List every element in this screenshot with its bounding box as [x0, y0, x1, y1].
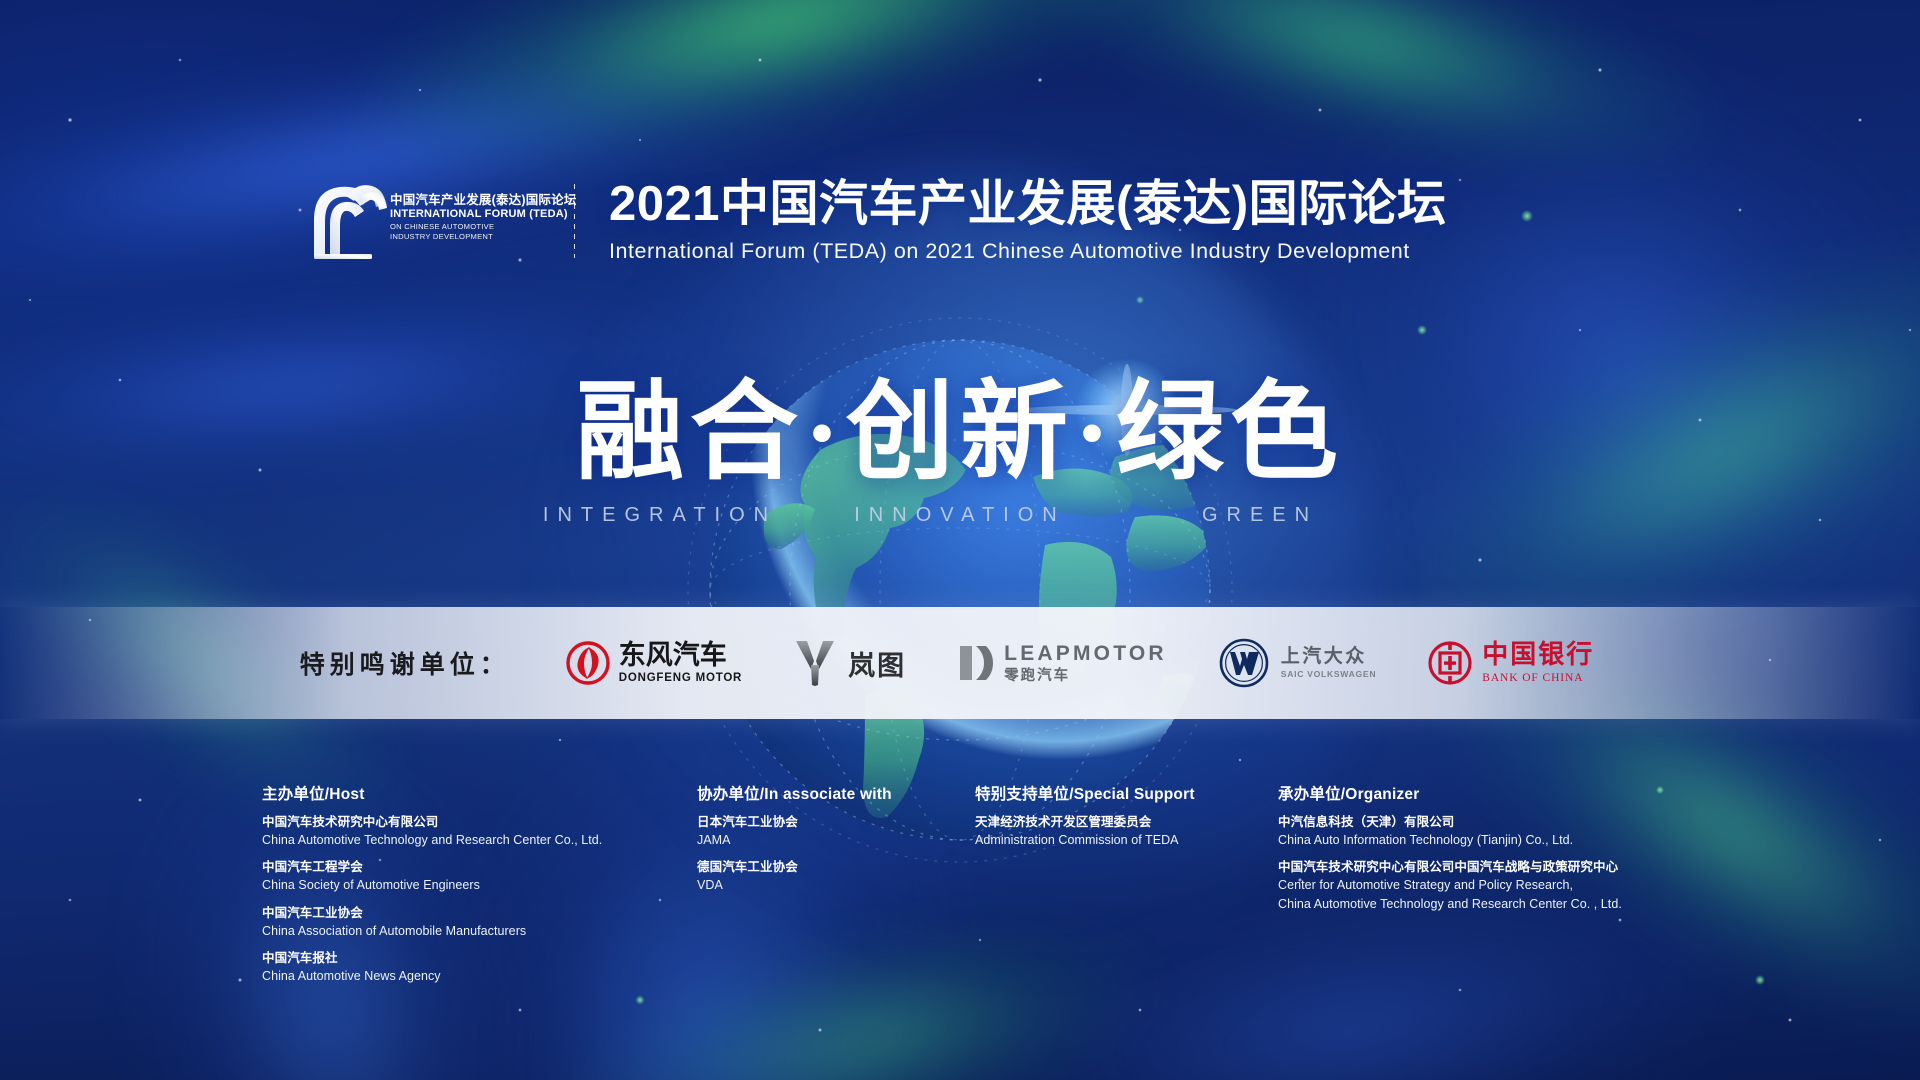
credit-entry-en: China Society of Automotive Engineers	[262, 876, 662, 894]
credit-entry-cn: 中国汽车报社	[262, 949, 662, 967]
credit-entry-en: China Automotive News Agency	[262, 967, 662, 985]
sponsor-logo-bank-of-china[interactable]: 中国银行 BANK OF CHINA	[1402, 631, 1620, 695]
credit-entry-en: Center for Automotive Strategy and Polic…	[1278, 876, 1698, 912]
leapmotor-name-en: LEAPMOTOR	[1004, 643, 1167, 664]
leapmotor-logo-icon	[958, 642, 994, 684]
credit-entry-en: China Association of Automobile Manufact…	[262, 922, 662, 940]
credits-column-organizer: 承办单位/Organizer 中汽信息科技（天津）有限公司 China Auto…	[1278, 782, 1698, 922]
logo-mark-en-primary: INTERNATIONAL FORUM (TEDA)	[390, 208, 577, 220]
saic-vw-name-en: SAIC VOLKSWAGEN	[1281, 670, 1377, 679]
credits-heading: 主办单位/Host	[262, 782, 662, 804]
credits-column-host: 主办单位/Host 中国汽车技术研究中心有限公司 China Automotiv…	[262, 782, 662, 994]
event-slogan: 融合·创新·绿色 INTEGRATION INNOVATION GREEN	[0, 380, 1920, 527]
voyah-name-cn: 岚图	[848, 644, 906, 683]
credits-section: 主办单位/Host 中国汽车技术研究中心有限公司 China Automotiv…	[0, 782, 1920, 982]
volkswagen-logo-icon	[1219, 638, 1269, 688]
credits-heading: 特别支持单位/Special Support	[975, 782, 1275, 804]
credit-entry: 中国汽车技术研究中心有限公司 China Automotive Technolo…	[262, 813, 662, 849]
logo-mark-en-secondary: ON CHINESE AUTOMOTIVE INDUSTRY DEVELOPME…	[390, 222, 577, 241]
page-title-cn: 2021中国汽车产业发展(泰达)国际论坛	[609, 178, 1447, 232]
credit-entry-cn: 中汽信息科技（天津）有限公司	[1278, 813, 1698, 831]
saic-vw-name-cn: 上汽大众	[1281, 647, 1367, 666]
credits-column-associate: 协办单位/In associate with 日本汽车工业协会 JAMA 德国汽…	[697, 782, 977, 904]
credit-entry-en: JAMA	[697, 831, 977, 849]
credit-entry-en: China Auto Information Technology (Tianj…	[1278, 831, 1698, 849]
credit-entry-en: VDA	[697, 876, 977, 894]
credit-entry: 德国汽车工业协会 VDA	[697, 858, 977, 894]
dongfeng-logo-icon	[566, 641, 610, 685]
sponsor-logo-voyah[interactable]: 岚图	[768, 631, 932, 695]
slogan-en-innovation: INNOVATION	[810, 504, 1110, 527]
credits-column-special-support: 特别支持单位/Special Support 天津经济技术开发区管理委员会 Ad…	[975, 782, 1275, 858]
credit-entry: 天津经济技术开发区管理委员会 Administration Commission…	[975, 813, 1275, 849]
poster-header: 中国汽车产业发展(泰达)国际论坛 INTERNATIONAL FORUM (TE…	[310, 178, 1447, 264]
slogan-en-integration: INTEGRATION	[510, 504, 810, 527]
credit-entry-en: China Automotive Technology and Research…	[262, 831, 662, 849]
credit-entry-en: Administration Commission of TEDA	[975, 831, 1275, 849]
credit-entry: 中国汽车技术研究中心有限公司中国汽车战略与政策研究中心 Center for A…	[1278, 858, 1698, 912]
credit-entry-cn: 天津经济技术开发区管理委员会	[975, 813, 1275, 831]
bank-of-china-logo-icon	[1428, 641, 1472, 685]
voyah-logo-icon	[794, 639, 836, 687]
teda-forum-logo: 中国汽车产业发展(泰达)国际论坛 INTERNATIONAL FORUM (TE…	[310, 180, 552, 262]
slogan-en-green: GREEN	[1110, 504, 1410, 527]
credit-entry-cn: 日本汽车工业协会	[697, 813, 977, 831]
boc-name-cn: 中国银行	[1482, 642, 1594, 668]
aurora-blue-ribbon-1	[0, 0, 939, 349]
credit-entry: 中国汽车工程学会 China Society of Automotive Eng…	[262, 858, 662, 894]
forum-arch-mark-icon	[310, 180, 388, 262]
credit-entry: 中国汽车报社 China Automotive News Agency	[262, 949, 662, 985]
dongfeng-name-en: DONGFENG MOTOR	[619, 673, 742, 685]
sponsor-logo-dongfeng[interactable]: 东风汽车 DONGFENG MOTOR	[540, 631, 768, 695]
credit-entry-cn: 中国汽车工程学会	[262, 858, 662, 876]
sponsor-logo-list: 东风汽车 DONGFENG MOTOR	[540, 631, 1621, 695]
page-title-en: International Forum (TEDA) on 2021 Chine…	[609, 239, 1447, 264]
leapmotor-name-cn: 零跑汽车	[1004, 669, 1167, 684]
credit-entry-cn: 中国汽车技术研究中心有限公司	[262, 813, 662, 831]
dongfeng-name-cn: 东风汽车	[619, 642, 742, 669]
logo-mark-cn: 中国汽车产业发展(泰达)国际论坛	[390, 193, 577, 207]
boc-name-en: BANK OF CHINA	[1482, 673, 1594, 685]
sponsor-logo-leapmotor[interactable]: LEAPMOTOR 零跑汽车	[932, 631, 1193, 695]
special-thanks-label: 特别鸣谢单位：	[300, 645, 510, 681]
event-backdrop-poster: 中国汽车产业发展(泰达)国际论坛 INTERNATIONAL FORUM (TE…	[0, 0, 1920, 1080]
slogan-cn: 融合·创新·绿色	[0, 380, 1920, 488]
credit-entry-cn: 中国汽车工业协会	[262, 904, 662, 922]
sponsor-logo-saic-volkswagen[interactable]: 上汽大众 SAIC VOLKSWAGEN	[1193, 631, 1403, 695]
slogan-en-row: INTEGRATION INNOVATION GREEN	[0, 504, 1920, 527]
credit-entry: 日本汽车工业协会 JAMA	[697, 813, 977, 849]
special-thanks-band: 特别鸣谢单位： 东风汽车 DONGFENG MOTOR	[0, 607, 1920, 719]
credit-entry-cn: 德国汽车工业协会	[697, 858, 977, 876]
header-titles: 2021中国汽车产业发展(泰达)国际论坛 International Forum…	[609, 178, 1447, 264]
credits-heading: 承办单位/Organizer	[1278, 782, 1698, 804]
credit-entry-cn: 中国汽车技术研究中心有限公司中国汽车战略与政策研究中心	[1278, 858, 1698, 876]
credit-entry: 中汽信息科技（天津）有限公司 China Auto Information Te…	[1278, 813, 1698, 849]
credits-heading: 协办单位/In associate with	[697, 782, 977, 804]
credit-entry: 中国汽车工业协会 China Association of Automobile…	[262, 904, 662, 940]
